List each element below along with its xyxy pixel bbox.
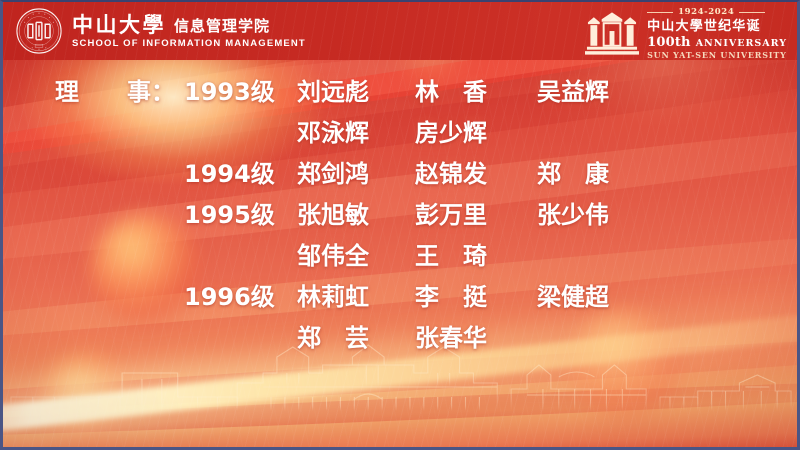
roster-name: 王 琦 [415, 236, 487, 277]
roster-year: 1996级 [184, 277, 275, 318]
roster-name: 彭万里 [415, 195, 487, 236]
anniversary-title-cn: 中山大學世纪华诞 [647, 20, 761, 33]
header-bar: 中山大學 信息管理学院 SCHOOL OF INFORMATION MANAGE… [3, 2, 797, 60]
roster-role-label: 理 事： [55, 72, 175, 113]
sysu-gate-emblem-icon [585, 10, 639, 56]
roster-name: 张春华 [415, 318, 487, 359]
college-name-cn: 信息管理学院 [174, 19, 270, 35]
roster-row: 1996级 林莉虹 李 挺 梁健超 [3, 277, 800, 318]
roster-name: 林 香 [415, 72, 487, 113]
roster-name: 郑剑鸿 [297, 154, 369, 195]
roster-row: 1995级 张旭敏 彭万里 张少伟 [3, 195, 800, 236]
roster-name: 赵锦发 [415, 154, 487, 195]
university-name-cn: 中山大學 [72, 14, 166, 35]
roster-list: 理 事： 1993级 刘远彪 林 香 吴益辉 邓泳辉 房少辉 1994级 郑剑鸿… [3, 72, 800, 359]
university-name-en: SUN YAT-SEN UNIVERSITY [647, 51, 787, 59]
roster-name: 吴益辉 [537, 72, 609, 113]
roster-year: 1995级 [184, 195, 275, 236]
anniversary-word: ANNIVERSARY [696, 39, 787, 49]
roster-row: 邓泳辉 房少辉 [3, 113, 800, 154]
rule-right [739, 12, 765, 13]
roster-year: 1993级 [184, 72, 275, 113]
roster-row: 郑 芸 张春华 [3, 318, 800, 359]
roster-name: 梁健超 [537, 277, 609, 318]
slide-canvas: 中山大學 信息管理学院 SCHOOL OF INFORMATION MANAGE… [0, 0, 800, 450]
roster-name: 邓泳辉 [297, 113, 369, 154]
anniversary-years: 1924-2024 [678, 8, 734, 17]
roster-row: 理 事： 1993级 刘远彪 林 香 吴益辉 [3, 72, 800, 113]
school-name-en: SCHOOL OF INFORMATION MANAGEMENT [72, 39, 306, 49]
rule-left [647, 12, 673, 13]
roster-name: 张少伟 [537, 195, 609, 236]
anniversary-number: 100th [647, 36, 691, 49]
roster-name: 郑 康 [537, 154, 609, 195]
roster-name: 邹伟全 [297, 236, 369, 277]
roster-row: 邹伟全 王 琦 [3, 236, 800, 277]
roster-name: 房少辉 [415, 113, 487, 154]
roster-name: 刘远彪 [297, 72, 369, 113]
header-anniversary-right: 1924-2024 中山大學世纪华诞 100th ANNIVERSARY SUN… [585, 8, 787, 59]
roster-name: 林莉虹 [297, 277, 369, 318]
roster-name: 郑 芸 [297, 318, 369, 359]
roster-name: 李 挺 [415, 277, 487, 318]
roster-year: 1994级 [184, 154, 275, 195]
roster-name: 张旭敏 [297, 195, 369, 236]
header-branding-left: 中山大學 信息管理学院 SCHOOL OF INFORMATION MANAGE… [15, 7, 306, 55]
sysu-sis-seal-icon [15, 7, 63, 55]
roster-row: 1994级 郑剑鸿 赵锦发 郑 康 [3, 154, 800, 195]
